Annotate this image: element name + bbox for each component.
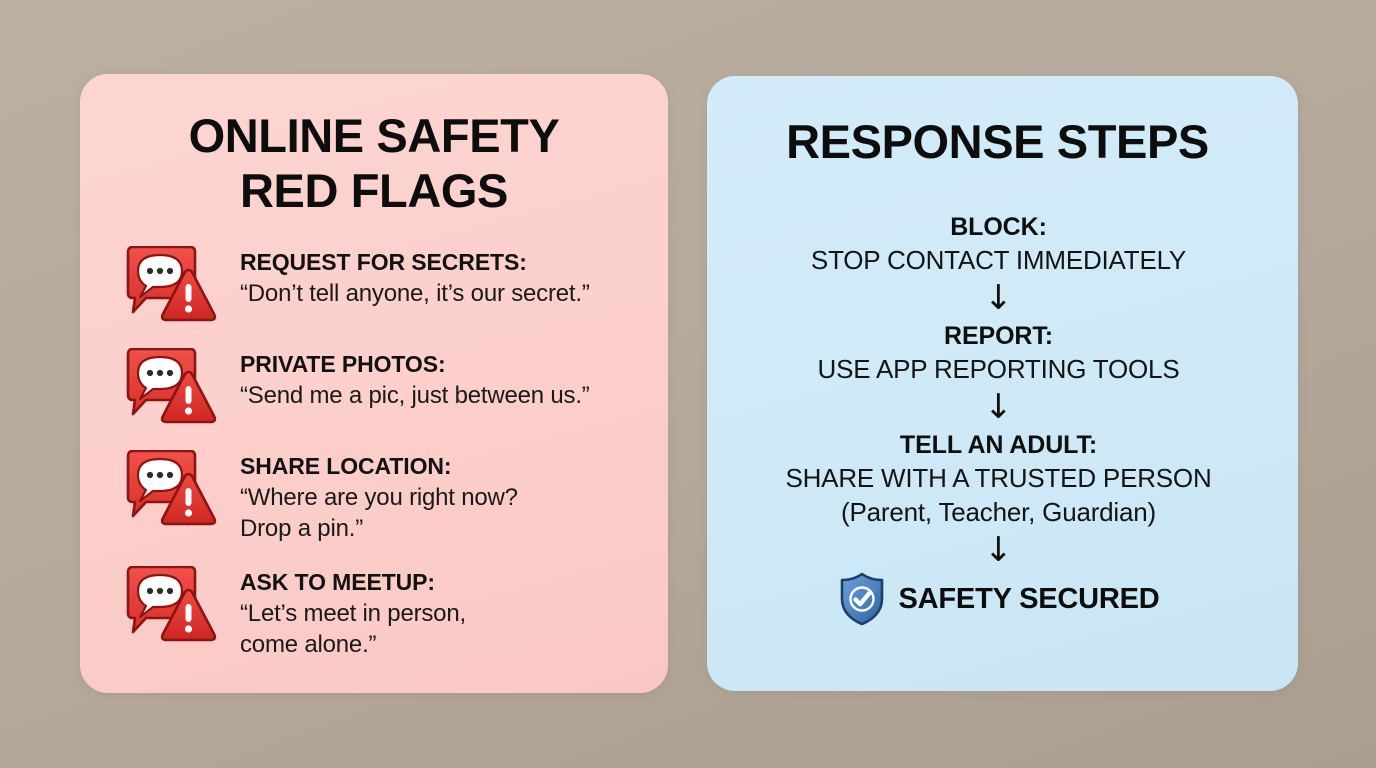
step-description: SHARE WITH A TRUSTED PERSON (Parent, Tea… bbox=[707, 461, 1290, 529]
red-flags-title-line1: ONLINE SAFETY bbox=[189, 109, 560, 162]
chat-warning-icon bbox=[122, 246, 218, 326]
response-steps-flow: BLOCK: STOP CONTACT IMMEDIATELY ↓ REPORT… bbox=[707, 211, 1298, 626]
red-flag-quote-line2: come alone.” bbox=[240, 629, 466, 660]
arrow-down-icon: ↓ bbox=[707, 531, 1290, 569]
list-item-text: PRIVATE PHOTOS: “Send me a pic, just bet… bbox=[218, 346, 590, 411]
step-block: BLOCK: STOP CONTACT IMMEDIATELY bbox=[707, 211, 1290, 277]
red-flag-quote: “Let’s meet in person, come alone.” bbox=[240, 598, 466, 660]
red-flag-quote: “Send me a pic, just between us.” bbox=[240, 380, 590, 411]
red-flag-quote: “Where are you right now? Drop a pin.” bbox=[240, 482, 518, 544]
red-flag-quote-line2: Drop a pin.” bbox=[240, 513, 518, 544]
list-item-text: ASK TO MEETUP: “Let’s meet in person, co… bbox=[218, 564, 466, 660]
list-item: SHARE LOCATION: “Where are you right now… bbox=[122, 448, 650, 544]
step-heading: TELL AN ADULT: bbox=[707, 429, 1290, 461]
safety-secured-row: SAFETY SECURED bbox=[707, 572, 1290, 626]
red-flags-title: ONLINE SAFETY RED FLAGS bbox=[80, 108, 668, 218]
step-heading: REPORT: bbox=[707, 320, 1290, 352]
red-flag-label: ASK TO MEETUP: bbox=[240, 568, 466, 597]
chat-warning-icon bbox=[122, 450, 218, 530]
shield-check-icon bbox=[838, 572, 886, 626]
red-flag-quote-line1: “Let’s meet in person, bbox=[240, 600, 466, 627]
response-steps-card: RESPONSE STEPS BLOCK: STOP CONTACT IMMED… bbox=[707, 76, 1298, 691]
step-description: STOP CONTACT IMMEDIATELY bbox=[707, 243, 1290, 277]
list-item: PRIVATE PHOTOS: “Send me a pic, just bet… bbox=[122, 346, 650, 428]
step-report: REPORT: USE APP REPORTING TOOLS bbox=[707, 320, 1290, 386]
chat-warning-icon bbox=[122, 348, 218, 428]
red-flag-label: SHARE LOCATION: bbox=[240, 452, 518, 481]
arrow-down-icon: ↓ bbox=[707, 279, 1290, 317]
step-description: USE APP REPORTING TOOLS bbox=[707, 352, 1290, 386]
red-flags-list: REQUEST FOR SECRETS: “Don’t tell anyone,… bbox=[122, 244, 650, 680]
red-flag-quote-line1: “Send me a pic, just between us.” bbox=[240, 382, 590, 409]
red-flag-label: PRIVATE PHOTOS: bbox=[240, 350, 590, 379]
arrow-down-icon: ↓ bbox=[707, 388, 1290, 426]
red-flag-label: REQUEST FOR SECRETS: bbox=[240, 248, 590, 277]
step-description-main: SHARE WITH A TRUSTED PERSON bbox=[785, 463, 1211, 493]
chat-warning-icon bbox=[122, 566, 218, 646]
list-item-text: SHARE LOCATION: “Where are you right now… bbox=[218, 448, 518, 544]
red-flag-quote-line1: “Where are you right now? bbox=[240, 484, 518, 511]
list-item: ASK TO MEETUP: “Let’s meet in person, co… bbox=[122, 564, 650, 660]
step-heading: BLOCK: bbox=[707, 211, 1290, 243]
red-flag-quote: “Don’t tell anyone, it’s our secret.” bbox=[240, 278, 590, 309]
step-description-sub: (Parent, Teacher, Guardian) bbox=[707, 495, 1290, 529]
list-item-text: REQUEST FOR SECRETS: “Don’t tell anyone,… bbox=[218, 244, 590, 309]
response-steps-title: RESPONSE STEPS bbox=[707, 114, 1298, 170]
infographic-canvas: ONLINE SAFETY RED FLAGS bbox=[0, 0, 1376, 768]
red-flags-title-line2: RED FLAGS bbox=[114, 163, 634, 218]
red-flag-quote-line1: “Don’t tell anyone, it’s our secret.” bbox=[240, 280, 590, 307]
safety-secured-label: SAFETY SECURED bbox=[886, 583, 1160, 616]
red-flags-card: ONLINE SAFETY RED FLAGS bbox=[80, 74, 668, 693]
step-tell-an-adult: TELL AN ADULT: SHARE WITH A TRUSTED PERS… bbox=[707, 429, 1290, 529]
list-item: REQUEST FOR SECRETS: “Don’t tell anyone,… bbox=[122, 244, 650, 326]
